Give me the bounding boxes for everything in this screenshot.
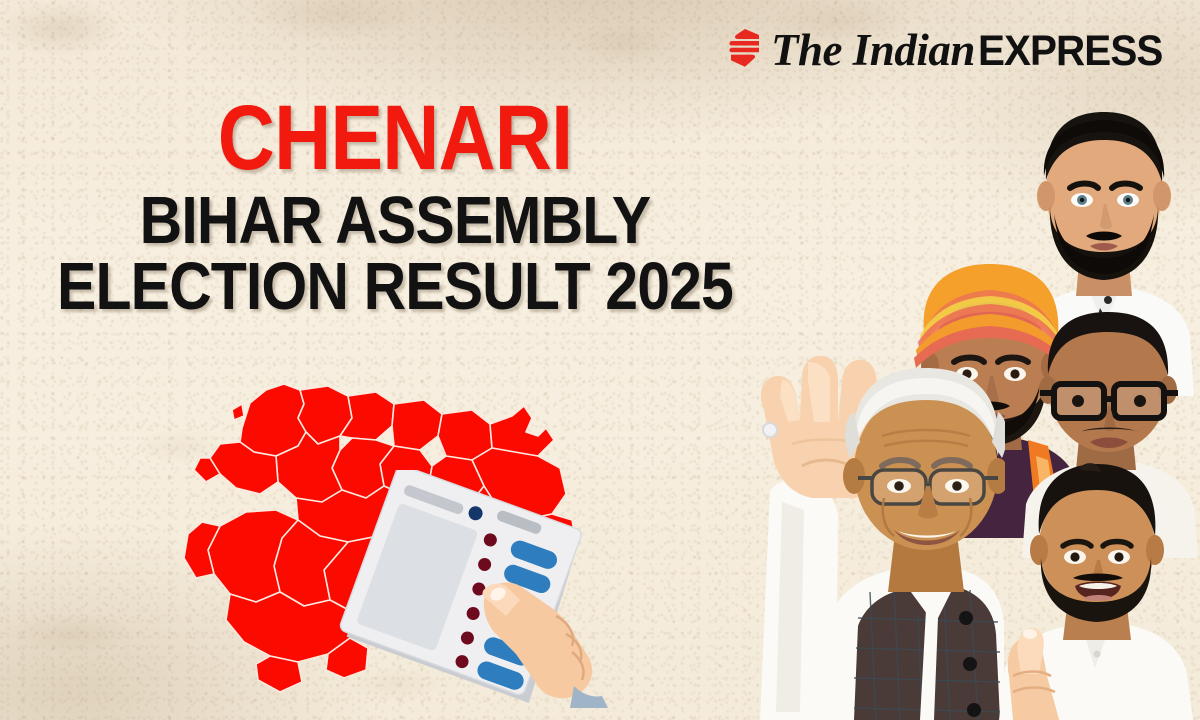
poster-canvas: The Indian EXPRESS CHENARI BIHAR ASSEMBL… — [0, 0, 1200, 720]
indian-express-s-monogram-icon — [728, 28, 762, 73]
masthead-express: EXPRESS — [978, 30, 1162, 73]
masthead-the-indian: The Indian — [771, 28, 975, 73]
bihar-map-illustration — [180, 370, 630, 700]
headline-constituency: CHENARI — [55, 96, 734, 181]
leader-portrait-nitish-kumar — [730, 318, 1005, 720]
headline-block: CHENARI BIHAR ASSEMBLY ELECTION RESULT 2… — [0, 96, 790, 318]
masthead: The Indian EXPRESS — [728, 28, 1174, 73]
masthead-wordmark: The Indian EXPRESS — [771, 28, 1174, 73]
leaders-collage — [730, 0, 1200, 720]
headline-subtitle-line-2: ELECTION RESULT 2025 — [47, 256, 742, 318]
headline-subtitle-line-1: BIHAR ASSEMBLY — [47, 190, 742, 252]
leader-portrait-tejashwi-yadav — [983, 462, 1198, 720]
evm-illustration — [320, 470, 620, 710]
evm-icon — [320, 470, 620, 710]
